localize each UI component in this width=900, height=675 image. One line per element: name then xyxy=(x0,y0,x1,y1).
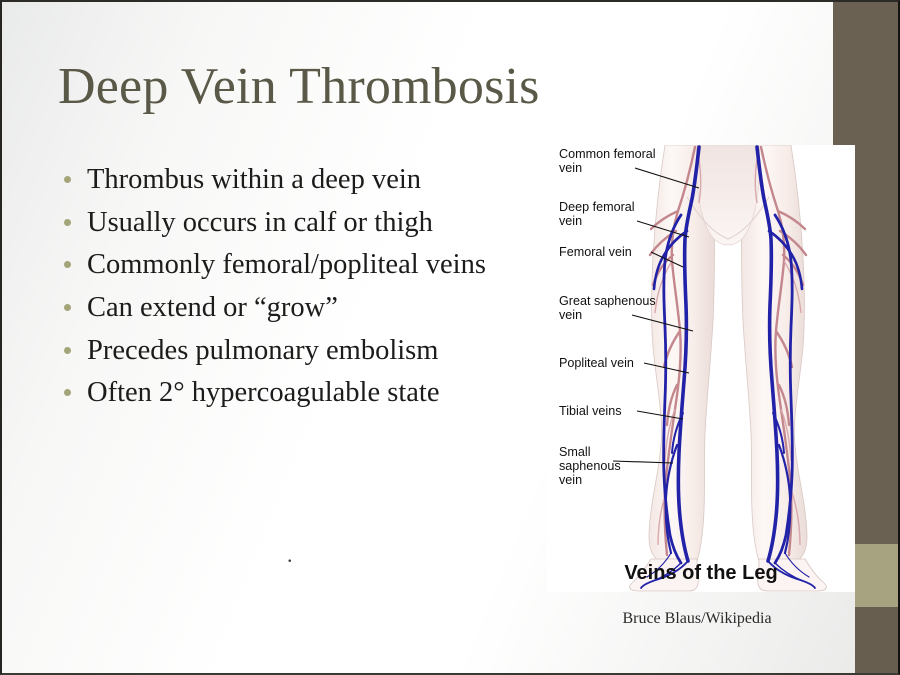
label-deep-femoral-vein-line1: Deep femoral xyxy=(559,200,635,214)
decor-bar-khaki xyxy=(855,544,900,607)
bullet-dot-icon xyxy=(64,304,71,311)
label-small-saphenous-vein-line3: vein xyxy=(559,473,582,487)
label-common-femoral-vein-line1: Common femoral xyxy=(559,147,656,161)
label-great-saphenous-vein-line2: vein xyxy=(559,308,582,322)
label-deep-femoral-vein-line2: vein xyxy=(559,214,582,228)
label-common-femoral-vein-line2: vein xyxy=(559,161,582,175)
bullet-text: Precedes pulmonary embolism xyxy=(87,334,438,368)
label-great-saphenous-vein-line1: Great saphenous xyxy=(559,294,656,308)
bullet-dot-icon xyxy=(64,219,71,226)
label-popliteal-vein: Popliteal vein xyxy=(559,356,634,370)
bullet-dot-icon xyxy=(64,261,71,268)
decor-bar-brown-middle xyxy=(855,145,900,544)
bullet-text: Thrombus within a deep vein xyxy=(87,163,421,197)
bullet-text: Often 2° hypercoagulable state xyxy=(87,376,439,410)
bullet-dot-icon xyxy=(64,347,71,354)
figure-credit: Bruce Blaus/Wikipedia xyxy=(547,610,847,628)
bullet-dot-icon xyxy=(64,176,71,183)
veins-of-the-leg-illustration: Common femoral vein Deep femoral vein Fe… xyxy=(547,145,855,592)
figure-caption: Veins of the Leg xyxy=(547,562,855,585)
stray-period-mark: . xyxy=(287,544,293,566)
list-item: Usually occurs in calf or thigh xyxy=(64,206,564,240)
list-item: Precedes pulmonary embolism xyxy=(64,334,564,368)
bullet-text: Usually occurs in calf or thigh xyxy=(87,206,433,240)
list-item: Commonly femoral/popliteal veins xyxy=(64,248,564,282)
list-item: Thrombus within a deep vein xyxy=(64,163,564,197)
label-small-saphenous-vein-line2: saphenous xyxy=(559,459,621,473)
decor-bar-brown-bottom xyxy=(855,607,900,675)
label-tibial-veins: Tibial veins xyxy=(559,404,622,418)
list-item: Often 2° hypercoagulable state xyxy=(64,376,564,410)
bullet-list: Thrombus within a deep vein Usually occu… xyxy=(64,163,564,419)
decor-bar-brown-top xyxy=(833,2,900,145)
label-small-saphenous-vein-line1: Small xyxy=(559,445,591,459)
slide-canvas: Deep Vein Thrombosis Thrombus within a d… xyxy=(0,0,900,675)
label-femoral-vein: Femoral vein xyxy=(559,245,632,259)
bullet-dot-icon xyxy=(64,389,71,396)
slide-title: Deep Vein Thrombosis xyxy=(58,58,540,116)
list-item: Can extend or “grow” xyxy=(64,291,564,325)
bullet-text: Commonly femoral/popliteal veins xyxy=(87,248,486,282)
anatomy-figure-card: Common femoral vein Deep femoral vein Fe… xyxy=(547,145,855,592)
bullet-text: Can extend or “grow” xyxy=(87,291,338,325)
